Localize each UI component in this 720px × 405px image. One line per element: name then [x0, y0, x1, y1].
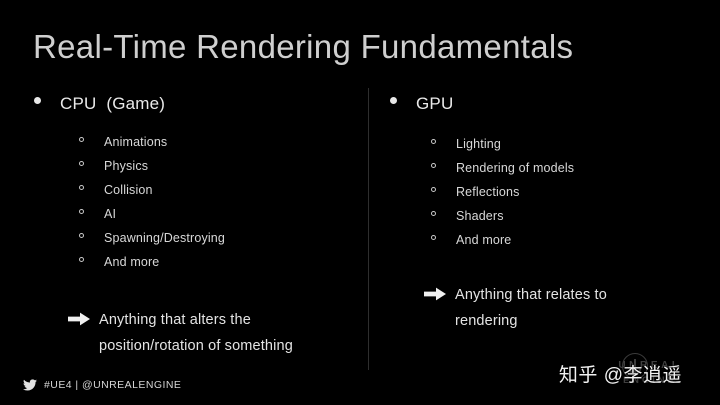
list-item-label: Shaders [456, 209, 504, 223]
bullet-ring-icon [431, 211, 436, 216]
cpu-callout: Anything that alters the position/rotati… [68, 307, 354, 359]
bullet-ring-icon [79, 137, 84, 142]
bullet-disc-icon [390, 97, 397, 104]
bullet-ring-icon [431, 235, 436, 240]
column-heading-label: GPU [416, 94, 453, 114]
list-item: AI [79, 207, 354, 231]
list-item-label: AI [104, 207, 116, 221]
list-item: Animations [79, 135, 354, 159]
bullet-ring-icon [431, 139, 436, 144]
list-item-label: Rendering of models [456, 161, 574, 175]
list-item-label: Lighting [456, 137, 501, 151]
bullet-ring-icon [431, 163, 436, 168]
twitter-icon [23, 379, 37, 391]
bullet-ring-icon [79, 209, 84, 214]
list-item-label: And more [104, 255, 159, 269]
list-item-label: And more [456, 233, 511, 247]
gpu-callout: Anything that relates to rendering [424, 282, 700, 334]
column-cpu: CPU (Game) Animations Physics Collision … [34, 94, 354, 359]
list-item: Reflections [431, 185, 700, 209]
zhihu-watermark: 知乎 @李逍遥 [559, 360, 682, 387]
list-item: Lighting [431, 137, 700, 161]
list-item: And more [431, 233, 700, 257]
bullet-ring-icon [431, 187, 436, 192]
bullet-ring-icon [79, 257, 84, 262]
footer: #UE4 | @UNREALENGINE [23, 379, 181, 391]
list-item-label: Spawning/Destroying [104, 231, 225, 245]
page-title: Real-Time Rendering Fundamentals [33, 27, 573, 67]
cpu-callout-text: Anything that alters the position/rotati… [99, 307, 349, 359]
list-item-label: Reflections [456, 185, 520, 199]
column-heading-row: CPU (Game) [34, 94, 354, 116]
slide-canvas: Real-Time Rendering Fundamentals CPU (Ga… [0, 0, 720, 405]
list-item-label: Collision [104, 183, 153, 197]
list-item-label: Physics [104, 159, 148, 173]
list-item: And more [79, 255, 354, 279]
list-item: Physics [79, 159, 354, 183]
right-arrow-icon [424, 287, 446, 301]
column-heading-label: CPU (Game) [60, 94, 165, 114]
list-item: Collision [79, 183, 354, 207]
bullet-disc-icon [34, 97, 41, 104]
gpu-sub-list: Lighting Rendering of models Reflections… [431, 137, 700, 257]
list-item: Rendering of models [431, 161, 700, 185]
column-gpu: GPU Lighting Rendering of models Reflect… [390, 94, 700, 334]
right-arrow-icon [68, 312, 90, 326]
bullet-ring-icon [79, 185, 84, 190]
gpu-callout-text: Anything that relates to rendering [455, 282, 665, 334]
footer-text: #UE4 | @UNREALENGINE [44, 379, 181, 391]
list-item: Spawning/Destroying [79, 231, 354, 255]
column-heading-row: GPU [390, 94, 700, 116]
column-divider [368, 88, 369, 370]
bullet-ring-icon [79, 161, 84, 166]
list-item-label: Animations [104, 135, 167, 149]
cpu-sub-list: Animations Physics Collision AI Spawning… [79, 135, 354, 279]
bullet-ring-icon [79, 233, 84, 238]
list-item: Shaders [431, 209, 700, 233]
